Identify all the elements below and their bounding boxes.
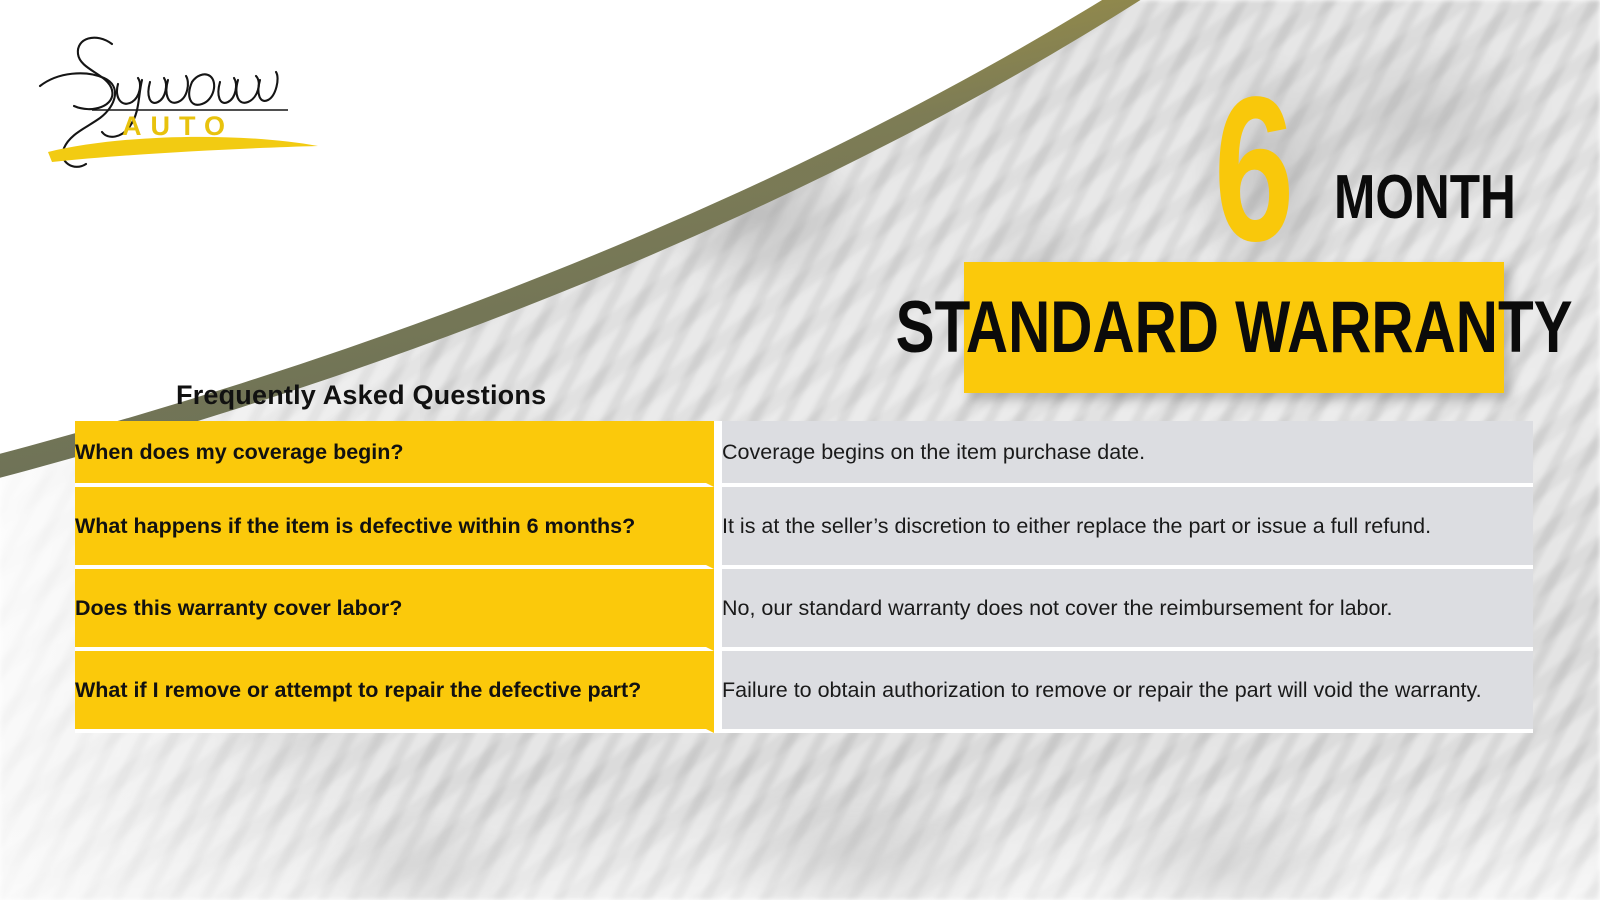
faq-question-cell: What if I remove or attempt to repair th… (75, 651, 714, 733)
svg-text:AUTO: AUTO (122, 111, 234, 141)
faq-answer-cell: Failure to obtain authorization to remov… (714, 651, 1533, 733)
faq-question-cell: Does this warranty cover labor? (75, 569, 714, 651)
seymour-auto-logo: AUTO (30, 22, 330, 172)
faq-question-cell: What happens if the item is defective wi… (75, 487, 714, 569)
background-bottom-fade (0, 780, 1600, 900)
table-row: When does my coverage begin? Coverage be… (75, 421, 1533, 487)
faq-answer-cell: It is at the seller’s discretion to eith… (714, 487, 1533, 569)
table-row: What if I remove or attempt to repair th… (75, 651, 1533, 733)
warranty-duration-number: 6 (1214, 74, 1290, 264)
faq-answer-cell: Coverage begins on the item purchase dat… (714, 421, 1533, 487)
faq-heading: Frequently Asked Questions (176, 379, 546, 411)
table-row: Does this warranty cover labor? No, our … (75, 569, 1533, 651)
faq-answer-cell: No, our standard warranty does not cover… (714, 569, 1533, 651)
standard-warranty-banner: STANDARD WARRANTY (964, 262, 1504, 393)
standard-warranty-banner-text: STANDARD WARRANTY (896, 291, 1573, 364)
table-row: What happens if the item is defective wi… (75, 487, 1533, 569)
faq-table: When does my coverage begin? Coverage be… (75, 421, 1533, 733)
warranty-duration-unit: MONTH (1334, 167, 1516, 229)
faq-question-cell: When does my coverage begin? (75, 421, 714, 487)
slide-canvas: AUTO 6 MONTH STANDARD WARRANTY Frequentl… (0, 0, 1600, 900)
